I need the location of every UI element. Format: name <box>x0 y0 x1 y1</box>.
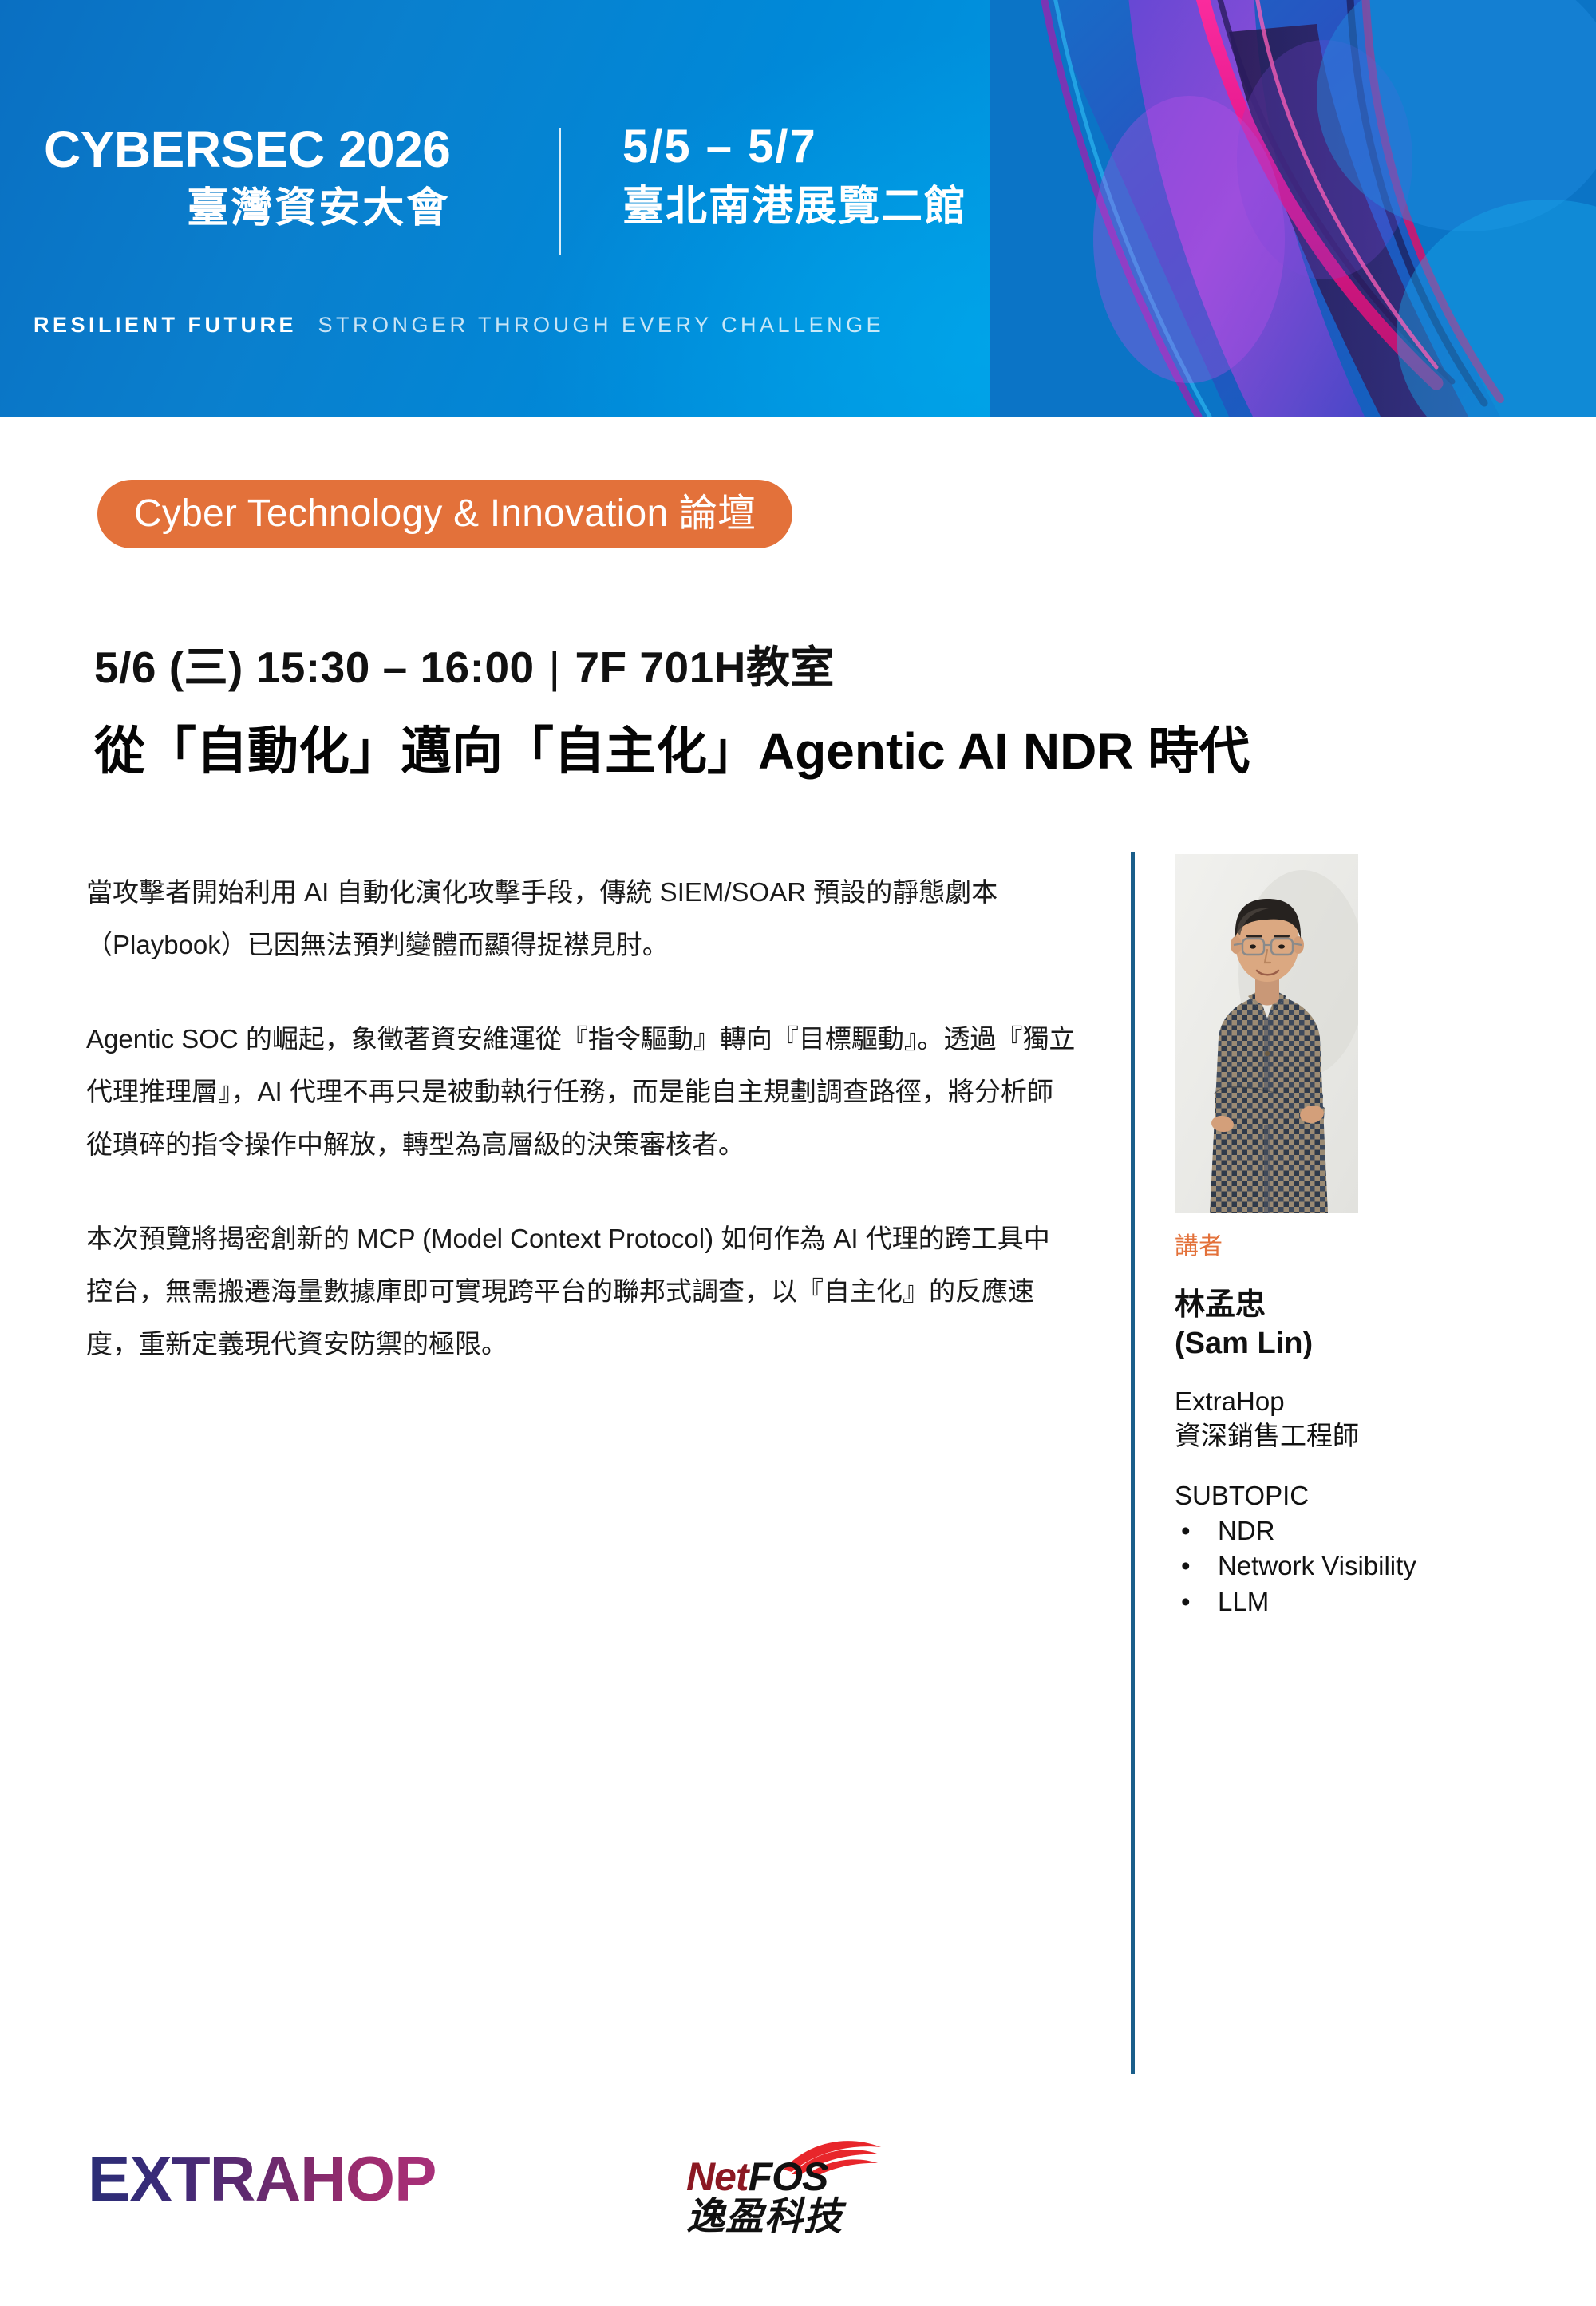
event-date-venue: 5/5 – 5/7 臺北南港展覽二館 <box>622 124 967 227</box>
extrahop-logo: EXTRAHOP <box>88 2147 437 2211</box>
speaker-role-label: 講者 <box>1175 1232 1494 1261</box>
cybersec-logo: CYBERSEC 2026 臺灣資安大會 <box>44 124 450 229</box>
banner-vertical-divider <box>559 128 561 255</box>
list-item: • Network Visibility <box>1175 1549 1494 1584</box>
event-venue: 臺北南港展覽二館 <box>622 186 967 227</box>
cybersec-logo-zh: 臺灣資安大會 <box>44 188 450 229</box>
bullet-icon: • <box>1181 1549 1191 1584</box>
forum-category-label: Cyber Technology & Innovation 論壇 <box>134 495 756 533</box>
abstract-paragraph: Agentic SOC 的崛起，象徵著資安維運從『指令驅動』轉向『目標驅動』。透… <box>86 1013 1076 1171</box>
session-abstract: 當攻擊者開始利用 AI 自動化演化攻擊手段，傳統 SIEM/SOAR 預設的靜態… <box>86 866 1076 1371</box>
cybersec-logo-en: CYBERSEC 2026 <box>44 124 450 175</box>
list-item: • LLM <box>1175 1584 1494 1620</box>
session-meta: 5/6 (三) 15:30 – 16:00|7F 701H教室 <box>94 643 835 692</box>
tagline-bold: RESILIENT FUTURE <box>34 313 297 337</box>
bullet-icon: • <box>1181 1584 1191 1620</box>
speaker-photo <box>1175 854 1358 1213</box>
abstract-paragraph: 當攻擊者開始利用 AI 自動化演化攻擊手段，傳統 SIEM/SOAR 預設的靜態… <box>86 866 1076 971</box>
subtopic-label: LLM <box>1218 1587 1269 1616</box>
abstract-paragraph: 本次預覽將揭密創新的 MCP (Model Context Protocol) … <box>86 1212 1076 1371</box>
tagline-light: STRONGER THROUGH EVERY CHALLENGE <box>318 313 884 337</box>
netfos-wordmark-zh: 逸盈科技 <box>686 2198 843 2237</box>
netfos-wordmark-fos: FOS <box>749 2154 828 2199</box>
forum-category-badge: Cyber Technology & Innovation 論壇 <box>97 480 792 548</box>
speaker-name-zh: 林孟忠 <box>1175 1287 1494 1325</box>
session-meta-separator: | <box>535 643 575 692</box>
netfos-wordmark: NetFOS <box>686 2157 828 2197</box>
speaker-name: 林孟忠 (Sam Lin) <box>1175 1287 1494 1363</box>
bullet-icon: • <box>1181 1513 1191 1549</box>
subtopic-heading: SUBTOPIC <box>1175 1479 1494 1513</box>
event-tagline: RESILIENT FUTURE STRONGER THROUGH EVERY … <box>34 313 884 338</box>
session-room: 7F 701H教室 <box>575 643 834 692</box>
list-item: • NDR <box>1175 1513 1494 1549</box>
event-date-range: 5/5 – 5/7 <box>622 124 967 170</box>
column-divider <box>1131 852 1135 2074</box>
subtopic-label: Network Visibility <box>1218 1551 1416 1580</box>
banner-abstract-artwork <box>990 0 1596 417</box>
speaker-organization: ExtraHop <box>1175 1385 1494 1419</box>
speaker-job-title: 資深銷售工程師 <box>1175 1419 1494 1454</box>
event-banner: CYBERSEC 2026 臺灣資安大會 5/5 – 5/7 臺北南港展覽二館 … <box>0 0 1596 417</box>
session-datetime: 5/6 (三) 15:30 – 16:00 <box>94 643 535 692</box>
subtopic-label: NDR <box>1218 1516 1275 1545</box>
netfos-logo: NetFOS 逸盈科技 <box>686 2134 894 2230</box>
speaker-name-en: (Sam Lin) <box>1175 1325 1494 1363</box>
speaker-panel: 講者 林孟忠 (Sam Lin) ExtraHop 資深銷售工程師 SUBTOP… <box>1175 854 1494 1620</box>
sponsor-footer: EXTRAHOP NetFOS 逸盈科技 <box>0 2123 1596 2251</box>
session-title: 從「自動化」邁向「自主化」Agentic AI NDR 時代 <box>94 722 1250 781</box>
netfos-wordmark-net: Net <box>686 2154 749 2199</box>
subtopic-list: • NDR • Network Visibility • LLM <box>1175 1513 1494 1620</box>
